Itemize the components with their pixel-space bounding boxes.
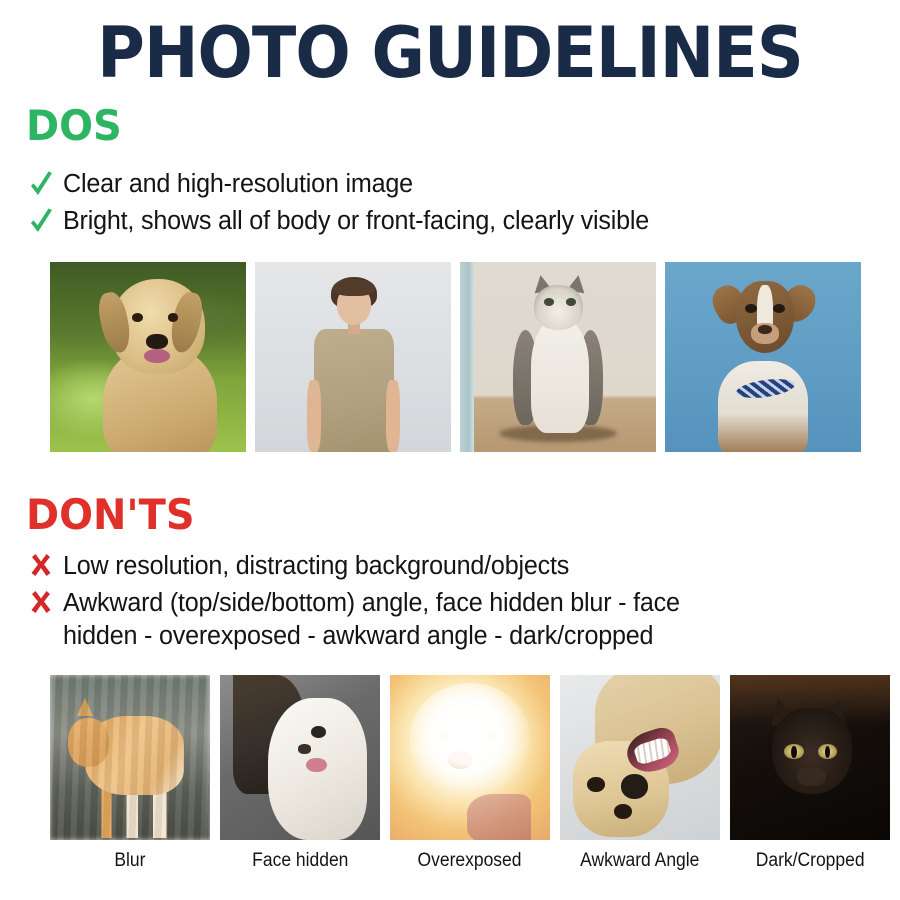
photo-cell: Blur: [50, 675, 210, 873]
donts-heading: DON'TS: [26, 492, 195, 538]
photo-caption: Overexposed: [418, 849, 522, 873]
photo-upside-down-golden-dog: [560, 675, 720, 840]
dos-photo-row: [50, 262, 861, 452]
check-icon: [28, 170, 54, 201]
photo-white-cat-face-hidden: [220, 675, 380, 840]
photo-cell: Overexposed: [390, 675, 550, 873]
list-item: Bright, shows all of body or front-facin…: [28, 205, 878, 238]
photo-golden-retriever-grass: [50, 262, 246, 452]
donts-photo-row: Blur Face hidden Overexposed: [50, 675, 890, 873]
check-icon: [28, 207, 54, 238]
photo-brown-white-dog-blue-backdrop: [665, 262, 861, 452]
photo-dark-black-cat: [730, 675, 890, 840]
photo-young-man-gray-background: [255, 262, 451, 452]
photo-cell: [255, 262, 451, 452]
photo-cell: Dark/Cropped: [730, 675, 890, 873]
photo-overexposed-pet: [390, 675, 550, 840]
photo-caption: Blur: [114, 849, 145, 873]
photo-cell: Awkward Angle: [560, 675, 720, 873]
list-item: Clear and high-resolution image: [28, 168, 878, 201]
donts-item-text: Low resolution, distracting background/o…: [63, 550, 569, 583]
dos-item-text: Bright, shows all of body or front-facin…: [63, 205, 649, 238]
donts-list: Low resolution, distracting background/o…: [28, 550, 878, 657]
dos-list: Clear and high-resolution image Bright, …: [28, 168, 878, 242]
cross-icon: [28, 589, 54, 620]
photo-caption: Dark/Cropped: [756, 849, 865, 873]
photo-blurred-orange-cat: [50, 675, 210, 840]
photo-guidelines-page: PHOTO GUIDELINES DOS Clear and high-reso…: [0, 0, 900, 900]
donts-item-text: Awkward (top/side/bottom) angle, face hi…: [63, 587, 680, 653]
dos-heading: DOS: [26, 103, 122, 149]
photo-cell: Face hidden: [220, 675, 380, 873]
photo-cell: [665, 262, 861, 452]
photo-tabby-white-cat-sitting: [460, 262, 656, 452]
list-item: Awkward (top/side/bottom) angle, face hi…: [28, 587, 878, 653]
list-item: Low resolution, distracting background/o…: [28, 550, 878, 583]
photo-cell: [50, 262, 246, 452]
photo-caption: Face hidden: [252, 849, 348, 873]
photo-cell: [460, 262, 656, 452]
photo-caption: Awkward Angle: [580, 849, 699, 873]
cross-icon: [28, 552, 54, 583]
page-title: PHOTO GUIDELINES: [32, 14, 869, 92]
dos-item-text: Clear and high-resolution image: [63, 168, 413, 201]
